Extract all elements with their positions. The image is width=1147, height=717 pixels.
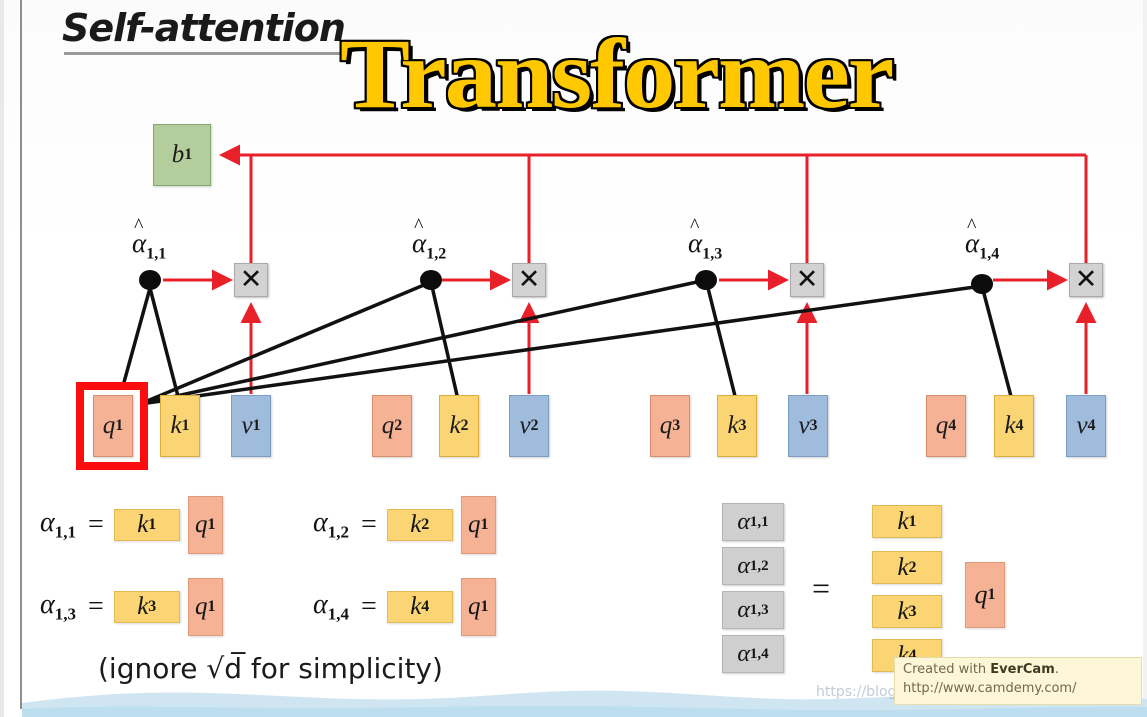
query-label: q bbox=[975, 580, 988, 610]
overlay-title-transformer: Transformer bbox=[340, 24, 892, 124]
query-vector-q1: q1 bbox=[93, 395, 133, 457]
matrix-alpha-1-2: α1,2 bbox=[722, 547, 784, 585]
evercam-brand: EverCam bbox=[990, 662, 1054, 677]
key-sup: 4 bbox=[421, 598, 429, 616]
value-sup: 2 bbox=[531, 417, 539, 435]
equation-alpha-1-2: α1,2 = k2 q1 bbox=[313, 496, 496, 554]
value-label: v bbox=[519, 412, 530, 440]
value-to-multiply-arrows bbox=[251, 305, 1086, 394]
query-vector-q2: q2 bbox=[372, 395, 412, 457]
multiply-glyph-icon: ✕ bbox=[1075, 269, 1098, 291]
key-vector-k4: k4 bbox=[994, 395, 1034, 457]
query-label: q bbox=[468, 593, 481, 621]
alpha-hat-sub: 1,2 bbox=[426, 245, 446, 262]
multiply-glyph-icon: ✕ bbox=[240, 269, 263, 291]
matrix-key-k2: k2 bbox=[872, 551, 942, 584]
matrix-alpha-sub: 1,3 bbox=[750, 602, 769, 619]
matrix-alpha-1-4: α1,4 bbox=[722, 635, 784, 673]
evercam-suffix: . bbox=[1055, 662, 1059, 677]
query-label: q bbox=[660, 412, 673, 440]
value-label: v bbox=[1076, 412, 1087, 440]
matrix-alpha-sub: 1,2 bbox=[750, 558, 769, 575]
hat-accent: ^ bbox=[134, 215, 143, 238]
value-vector-v3: v3 bbox=[788, 395, 828, 457]
query-label: q bbox=[936, 412, 949, 440]
alpha-hat-label-4: ^α1,4 bbox=[965, 228, 999, 263]
equation-query-box: q1 bbox=[461, 496, 496, 554]
query-label: q bbox=[468, 511, 481, 539]
key-label: k bbox=[897, 508, 908, 536]
key-sup: 2 bbox=[909, 559, 917, 577]
equation-alpha-label: α1,3 bbox=[40, 589, 76, 625]
evercam-prefix: Created with bbox=[903, 662, 990, 677]
matrix-key-k1: k1 bbox=[872, 505, 942, 538]
key-sup: 1 bbox=[909, 513, 917, 531]
alpha-glyph: α bbox=[40, 507, 55, 538]
alpha-node-1 bbox=[139, 270, 161, 290]
matrix-query-q1: q1 bbox=[965, 562, 1005, 628]
equation-query-box: q1 bbox=[188, 578, 223, 636]
key-vector-k1: k1 bbox=[160, 395, 200, 457]
query-sup: 1 bbox=[481, 598, 489, 616]
key-sup: 3 bbox=[148, 598, 156, 616]
alpha-glyph: α bbox=[313, 589, 328, 620]
alpha-glyph: α bbox=[40, 589, 55, 620]
slide-canvas: Self-attention Transformer bbox=[0, 0, 1147, 717]
matrix-alpha-sub: 1,4 bbox=[750, 646, 769, 663]
key-label: k bbox=[1004, 412, 1015, 440]
query-label: q bbox=[195, 511, 208, 539]
equation-alpha-1-3: α1,3 = k3 q1 bbox=[40, 578, 223, 636]
key-label: k bbox=[410, 511, 421, 539]
matrix-alpha-sub: 1,1 bbox=[750, 514, 769, 531]
output-vector-b1: b1 bbox=[153, 124, 211, 186]
query-sup: 1 bbox=[988, 586, 996, 604]
evercam-line1: Created with EverCam. bbox=[903, 661, 1133, 680]
value-sup: 3 bbox=[810, 417, 818, 435]
alpha-node-2 bbox=[420, 270, 442, 290]
key-label: k bbox=[170, 412, 181, 440]
matrix-key-k3: k3 bbox=[872, 595, 942, 628]
equals-sign: = bbox=[88, 509, 104, 541]
equation-alpha-1-4: α1,4 = k4 q1 bbox=[313, 578, 496, 636]
alpha-glyph: α bbox=[737, 641, 750, 668]
alpha-hat-label-2: ^α1,2 bbox=[412, 228, 446, 263]
query-vector-q3: q3 bbox=[650, 395, 690, 457]
alpha-hat-sub: 1,1 bbox=[146, 245, 166, 262]
key-sup: 2 bbox=[421, 516, 429, 534]
key-label: k bbox=[727, 412, 738, 440]
query-sup: 1 bbox=[208, 516, 216, 534]
equation-alpha-label: α1,4 bbox=[313, 589, 349, 625]
output-label: b bbox=[172, 141, 185, 169]
key-vector-k3: k3 bbox=[717, 395, 757, 457]
key-label: k bbox=[137, 511, 148, 539]
key-label: k bbox=[449, 412, 460, 440]
alpha-hat-glyph: ^α bbox=[412, 228, 426, 258]
query-vector-q4: q4 bbox=[926, 395, 966, 457]
equation-key-box: k2 bbox=[387, 509, 453, 541]
alpha-hat-glyph: ^α bbox=[132, 228, 146, 258]
equation-alpha-sub: 1,4 bbox=[328, 605, 349, 624]
equals-sign: = bbox=[361, 591, 377, 623]
alpha-node-3 bbox=[695, 270, 717, 290]
query-sup: 2 bbox=[394, 417, 402, 435]
key-label: k bbox=[897, 598, 908, 626]
key-sup: 4 bbox=[1016, 417, 1024, 435]
query-sup: 4 bbox=[948, 417, 956, 435]
equation-key-box: k1 bbox=[114, 509, 180, 541]
value-vector-v4: v4 bbox=[1066, 395, 1106, 457]
alpha-hat-sub: 1,4 bbox=[979, 245, 999, 262]
key-label: k bbox=[897, 554, 908, 582]
matrix-equals-sign: = bbox=[812, 570, 830, 607]
equation-alpha-sub: 1,2 bbox=[328, 523, 349, 542]
multiply-glyph-icon: ✕ bbox=[518, 269, 541, 291]
query-label: q bbox=[103, 412, 116, 440]
hat-accent: ^ bbox=[690, 215, 699, 238]
value-vector-v2: v2 bbox=[509, 395, 549, 457]
equation-key-box: k3 bbox=[114, 591, 180, 623]
alpha-hat-sub: 1,3 bbox=[702, 245, 722, 262]
alpha-node-4 bbox=[971, 274, 993, 294]
matrix-alpha-1-3: α1,3 bbox=[722, 591, 784, 629]
value-label: v bbox=[241, 412, 252, 440]
equals-sign: = bbox=[88, 591, 104, 623]
equals-sign: = bbox=[361, 509, 377, 541]
key-sup: 3 bbox=[909, 603, 917, 621]
slide-left-rule bbox=[20, 0, 22, 709]
qk-to-alpha-connectors bbox=[118, 280, 1013, 404]
alpha-glyph: α bbox=[313, 507, 328, 538]
multiply-op-4: ✕ bbox=[1069, 263, 1103, 297]
alpha-glyph: α bbox=[737, 553, 750, 580]
equation-alpha-label: α1,1 bbox=[40, 507, 76, 543]
key-label: k bbox=[410, 593, 421, 621]
video-frame-left-edge bbox=[0, 0, 4, 717]
alpha-hat-label-1: ^α1,1 bbox=[132, 228, 166, 263]
value-vector-v1: v1 bbox=[231, 395, 271, 457]
query-label: q bbox=[382, 412, 395, 440]
multiply-glyph-icon: ✕ bbox=[796, 269, 819, 291]
key-sup: 2 bbox=[461, 417, 469, 435]
equation-alpha-label: α1,2 bbox=[313, 507, 349, 543]
equation-query-box: q1 bbox=[188, 496, 223, 554]
multiply-op-1: ✕ bbox=[234, 263, 268, 297]
key-vector-k2: k2 bbox=[439, 395, 479, 457]
key-label: k bbox=[137, 593, 148, 621]
query-sup: 1 bbox=[481, 516, 489, 534]
query-sup: 1 bbox=[115, 417, 123, 435]
equation-alpha-1-1: α1,1 = k1 q1 bbox=[40, 496, 223, 554]
equation-key-box: k4 bbox=[387, 591, 453, 623]
key-sup: 1 bbox=[182, 417, 190, 435]
multiply-op-3: ✕ bbox=[790, 263, 824, 297]
key-sup: 3 bbox=[739, 417, 747, 435]
hat-accent: ^ bbox=[967, 215, 976, 238]
value-label: v bbox=[798, 412, 809, 440]
page-title: Self-attention bbox=[62, 6, 345, 50]
query-label: q bbox=[195, 593, 208, 621]
multiply-op-2: ✕ bbox=[512, 263, 546, 297]
value-sup: 4 bbox=[1088, 417, 1096, 435]
evercam-url: http://www.camdemy.com/ bbox=[903, 680, 1133, 699]
equation-query-box: q1 bbox=[461, 578, 496, 636]
video-frame-right-edge bbox=[1143, 0, 1147, 717]
key-sup: 1 bbox=[148, 516, 156, 534]
evercam-watermark: Created with EverCam. http://www.camdemy… bbox=[894, 657, 1142, 705]
equation-alpha-sub: 1,3 bbox=[55, 605, 76, 624]
title-underline bbox=[64, 52, 352, 55]
value-sup: 1 bbox=[253, 417, 261, 435]
alpha-glyph: α bbox=[737, 597, 750, 624]
alpha-hat-glyph: ^α bbox=[688, 228, 702, 258]
hat-accent: ^ bbox=[414, 215, 423, 238]
query-sup: 1 bbox=[208, 598, 216, 616]
matrix-alpha-1-1: α1,1 bbox=[722, 503, 784, 541]
output-sup: 1 bbox=[184, 146, 192, 164]
equation-alpha-sub: 1,1 bbox=[55, 523, 76, 542]
alpha-glyph: α bbox=[737, 509, 750, 536]
output-bus-red bbox=[222, 155, 1086, 277]
query-sup: 3 bbox=[672, 417, 680, 435]
alpha-hat-label-3: ^α1,3 bbox=[688, 228, 722, 263]
alpha-hat-glyph: ^α bbox=[965, 228, 979, 258]
